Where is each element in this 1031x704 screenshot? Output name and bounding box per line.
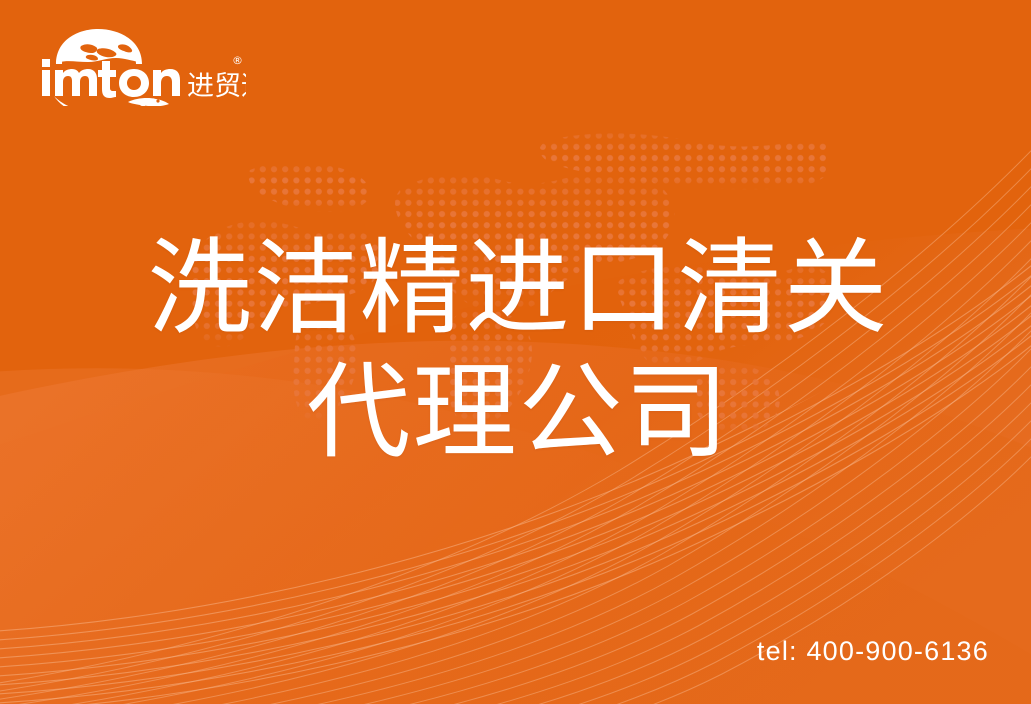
page-title: 洗洁精进口清关 代理公司 [0, 226, 1031, 474]
globe-dome-icon [56, 29, 142, 64]
brand-logo[interactable]: 进贸通 ® [36, 28, 246, 106]
page-title-line-1: 洗洁精进口清关 [0, 226, 1031, 350]
wordmark-imton [42, 59, 180, 98]
poster-canvas: 进贸通 ® 洗洁精进口清关 代理公司 tel: 400-900-6136 [0, 0, 1031, 704]
trademark-symbol: ® [232, 54, 243, 67]
logo-chinese-name: 进贸通 [187, 71, 246, 102]
page-title-line-2: 代理公司 [0, 350, 1031, 474]
contact-phone[interactable]: tel: 400-900-6136 [757, 636, 989, 667]
